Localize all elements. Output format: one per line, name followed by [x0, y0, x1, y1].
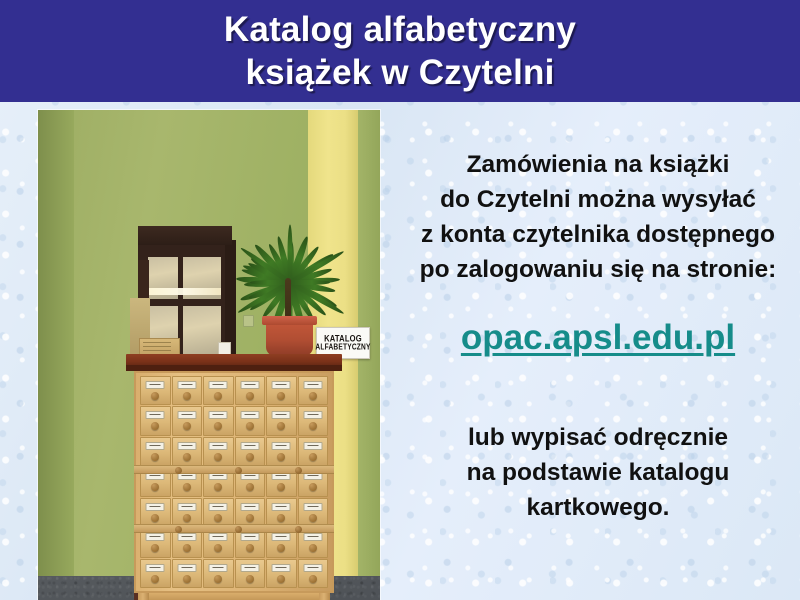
door-light-reflection	[148, 288, 221, 295]
drawer-label-plate	[177, 533, 196, 541]
drawer-label-plate	[146, 411, 165, 419]
drawer-knob	[246, 514, 254, 522]
drawer-knob	[246, 575, 254, 583]
catalog-drawer	[266, 406, 297, 435]
drawer-label-plate	[177, 381, 196, 389]
page-title-line-2: książek w Czytelni	[0, 51, 800, 94]
drawer-knob	[309, 422, 317, 430]
cabinet-apron	[138, 593, 330, 600]
drawer-knob	[214, 514, 222, 522]
drawer-knob	[151, 483, 159, 491]
catalog-drawer	[140, 406, 171, 435]
catalog-drawer	[266, 498, 297, 527]
drawer-label-plate	[177, 564, 196, 572]
drawer-label-plate	[209, 411, 228, 419]
catalog-drawer	[298, 376, 329, 405]
drawer-knob	[246, 392, 254, 400]
rail-knob	[295, 526, 302, 533]
drawer-label-plate	[209, 503, 228, 511]
instructions-top-line-1: Zamówienia na książki	[396, 147, 800, 182]
rail-knob	[235, 526, 242, 533]
drawer-knob	[183, 514, 191, 522]
flower-pot-rim	[262, 316, 317, 325]
drawer-knob	[277, 483, 285, 491]
catalog-drawer	[140, 559, 171, 588]
drawer-label-plate	[177, 442, 196, 450]
drawer-knob	[246, 544, 254, 552]
plant-leaf	[290, 280, 330, 285]
drawer-knob	[246, 422, 254, 430]
drawer-knob	[309, 483, 317, 491]
instructions-bottom-line-3: kartkowego.	[396, 490, 800, 525]
plant-leaf	[250, 280, 290, 285]
drawer-knob	[214, 453, 222, 461]
drawer-knob	[151, 544, 159, 552]
drawer-knob	[214, 422, 222, 430]
text-column: Zamówienia na książki do Czytelni można …	[396, 110, 800, 600]
sign-line-2: ALFABETYCZNY	[315, 343, 370, 352]
header-band: Katalog alfabetyczny książek w Czytelni	[0, 0, 800, 102]
drawer-knob	[277, 392, 285, 400]
drawer-knob	[277, 514, 285, 522]
green-wall-left-shade	[38, 110, 74, 580]
drawer-label-plate	[272, 442, 291, 450]
drawer-knob	[246, 483, 254, 491]
catalog-drawer	[172, 406, 203, 435]
box-label	[143, 342, 171, 353]
drawer-knob	[214, 392, 222, 400]
drawer-label-plate	[240, 411, 259, 419]
instructions-bottom-line-1: lub wypisać odręcznie	[396, 420, 800, 455]
drawer-grid	[140, 376, 328, 588]
instructions-paragraph-bottom: lub wypisać odręcznie na podstawie katal…	[396, 420, 800, 525]
drawer-knob	[277, 422, 285, 430]
catalog-drawer	[235, 559, 266, 588]
catalog-drawer	[235, 437, 266, 466]
instructions-top-line-2: do Czytelni można wysyłać	[396, 182, 800, 217]
drawer-knob	[309, 514, 317, 522]
drawer-label-plate	[303, 442, 322, 450]
catalog-drawer	[140, 437, 171, 466]
drawer-label-plate	[146, 564, 165, 572]
catalog-drawer	[235, 376, 266, 405]
drawer-label-plate	[209, 533, 228, 541]
drawer-label-plate	[303, 503, 322, 511]
drawer-label-plate	[272, 503, 291, 511]
drawer-label-plate	[240, 442, 259, 450]
page-title-line-1: Katalog alfabetyczny	[224, 10, 576, 49]
drawer-knob	[183, 392, 191, 400]
plant-leaf	[288, 225, 293, 283]
cabinet-stand	[138, 593, 330, 600]
drawer-knob	[183, 422, 191, 430]
drawer-knob	[309, 575, 317, 583]
catalog-drawer	[203, 376, 234, 405]
drawer-label-plate	[303, 564, 322, 572]
drawer-label-plate	[177, 503, 196, 511]
opac-link[interactable]: opac.apsl.edu.pl	[461, 318, 735, 357]
instructions-paragraph-top: Zamówienia na książki do Czytelni można …	[396, 147, 800, 287]
drawer-knob	[151, 392, 159, 400]
rail-knob	[235, 467, 242, 474]
drawer-knob	[151, 453, 159, 461]
catalog-drawer	[298, 559, 329, 588]
drawer-label-plate	[272, 564, 291, 572]
rail-knob	[295, 467, 302, 474]
instructions-bottom-line-2: na podstawie katalogu	[396, 455, 800, 490]
drawer-label-plate	[209, 381, 228, 389]
opac-link-wrapper: opac.apsl.edu.pl	[396, 317, 800, 359]
drawer-label-plate	[272, 411, 291, 419]
drawer-label-plate	[146, 533, 165, 541]
drawer-knob	[309, 453, 317, 461]
catalog-drawer	[203, 406, 234, 435]
drawer-knob	[309, 392, 317, 400]
drawer-label-plate	[209, 442, 228, 450]
drawer-knob	[151, 514, 159, 522]
drawer-knob	[183, 544, 191, 552]
slide-canvas: Katalog alfabetyczny książek w Czytelni	[0, 0, 800, 600]
drawer-knob	[183, 575, 191, 583]
drawer-knob	[214, 483, 222, 491]
instructions-top-line-4: po zalogowaniu się na stronie:	[396, 252, 800, 287]
drawer-label-plate	[303, 411, 322, 419]
drawer-label-plate	[177, 411, 196, 419]
catalog-drawer	[266, 559, 297, 588]
catalog-drawer	[298, 437, 329, 466]
drawer-label-plate	[146, 442, 165, 450]
catalog-drawer	[172, 559, 203, 588]
drawer-knob	[277, 544, 285, 552]
catalog-drawer	[140, 498, 171, 527]
rail-knob	[175, 526, 182, 533]
drawer-knob	[277, 453, 285, 461]
door-glass-pane-4	[183, 306, 221, 358]
catalog-drawer	[172, 437, 203, 466]
drawer-label-plate	[146, 381, 165, 389]
catalog-drawer	[172, 498, 203, 527]
door-lintel	[138, 226, 232, 245]
catalog-drawer	[203, 437, 234, 466]
catalog-drawer	[266, 376, 297, 405]
catalog-drawer	[235, 498, 266, 527]
catalog-drawer	[266, 437, 297, 466]
flower-pot	[266, 320, 313, 356]
page-title: Katalog alfabetyczny książek w Czytelni	[0, 8, 800, 94]
catalog-drawer	[203, 559, 234, 588]
drawer-knob	[151, 422, 159, 430]
drawer-knob	[183, 453, 191, 461]
cabinet-leg-left	[138, 593, 149, 600]
drawer-label-plate	[146, 503, 165, 511]
drawer-knob	[309, 544, 317, 552]
catalog-drawer	[172, 376, 203, 405]
cabinet-rail-upper	[134, 465, 334, 474]
drawer-label-plate	[240, 564, 259, 572]
drawer-knob	[151, 575, 159, 583]
drawer-knob	[183, 483, 191, 491]
drawer-knob	[277, 575, 285, 583]
catalog-drawer	[203, 498, 234, 527]
cabinet-rail-lower	[134, 524, 334, 533]
cabinet-leg-right	[319, 593, 330, 600]
drawer-label-plate	[240, 533, 259, 541]
photo-scene: KATALOG ALFABETYCZNY	[38, 110, 380, 600]
catalog-drawer	[140, 376, 171, 405]
drawer-label-plate	[303, 533, 322, 541]
drawer-knob	[214, 575, 222, 583]
catalog-drawer	[235, 406, 266, 435]
drawer-knob	[214, 544, 222, 552]
rail-knob	[175, 467, 182, 474]
drawer-label-plate	[272, 381, 291, 389]
catalog-photo: KATALOG ALFABETYCZNY	[38, 110, 380, 600]
catalog-drawer	[298, 498, 329, 527]
catalog-drawer	[298, 406, 329, 435]
drawer-knob	[246, 453, 254, 461]
instructions-top-line-3: z konta czytelnika dostępnego	[396, 217, 800, 252]
drawer-label-plate	[209, 564, 228, 572]
drawer-label-plate	[272, 533, 291, 541]
drawer-label-plate	[303, 381, 322, 389]
drawer-label-plate	[240, 503, 259, 511]
drawer-label-plate	[240, 381, 259, 389]
